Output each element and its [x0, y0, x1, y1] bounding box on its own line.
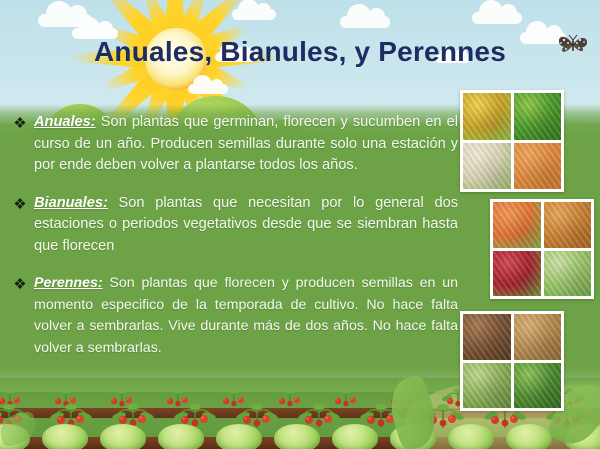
list-item: ❖ Bianuales: Son plantas que necesitan p… — [6, 193, 458, 258]
ginger-photo — [514, 314, 562, 360]
cantaloupe-photo — [514, 143, 562, 190]
beets-photo — [493, 251, 541, 297]
diamond-bullet-icon: ❖ — [6, 193, 34, 258]
cloud-icon — [340, 16, 390, 28]
bullet-term: Anuales: — [34, 114, 96, 130]
photo-texture — [514, 143, 562, 190]
bullet-description: Son plantas que germinan, florecen y suc… — [34, 114, 458, 173]
photo-texture — [493, 251, 541, 297]
cabbage-plant — [100, 424, 146, 449]
biennial-vegetables-collage — [490, 199, 594, 299]
cabbage-plant — [158, 424, 204, 449]
bullet-list: ❖ Anuales: Son plantas que germinan, flo… — [6, 112, 458, 375]
photo-texture — [544, 202, 592, 248]
cabbage-plant — [448, 424, 494, 449]
photo-texture — [544, 251, 592, 297]
diamond-bullet-icon: ❖ — [6, 112, 34, 177]
cloud-icon — [232, 9, 276, 20]
cabbage-photo — [544, 251, 592, 297]
list-item: ❖ Perennes: Son plantas que florecen y p… — [6, 273, 458, 359]
photo-texture — [514, 363, 562, 409]
page-title: Anuales, Bianules, y Perennes — [0, 36, 600, 68]
photo-texture — [463, 363, 511, 409]
bullet-term: Bianuales: — [34, 195, 108, 211]
lettuce-photo — [514, 93, 562, 140]
cabbage-plant — [42, 424, 88, 449]
slide: Anuales, Bianules, y Perennes ❖ Anuales:… — [0, 0, 600, 449]
bullet-term: Perennes: — [34, 275, 103, 291]
list-item: ❖ Anuales: Son plantas que germinan, flo… — [6, 112, 458, 177]
photo-texture — [463, 93, 511, 140]
photo-texture — [514, 314, 562, 360]
photo-texture — [493, 202, 541, 248]
cloud-icon — [188, 84, 228, 94]
cloud-icon — [472, 12, 522, 24]
asparagus-photo — [514, 363, 562, 409]
photo-texture — [463, 314, 511, 360]
cabbage-plant — [216, 424, 262, 449]
diamond-bullet-icon: ❖ — [6, 273, 34, 359]
annual-vegetables-collage — [460, 90, 564, 192]
photo-texture — [514, 93, 562, 140]
bullet-text: Anuales: Son plantas que germinan, flore… — [34, 112, 458, 177]
carrots-photo — [493, 202, 541, 248]
cabbage-plant — [332, 424, 378, 449]
cauliflower-photo — [463, 143, 511, 190]
bullet-text: Bianuales: Son plantas que necesitan por… — [34, 193, 458, 258]
onions-photo — [544, 202, 592, 248]
corn-photo — [463, 93, 511, 140]
bullet-text: Perennes: Son plantas que florecen y pro… — [34, 273, 458, 359]
photo-texture — [463, 143, 511, 190]
perennial-vegetables-collage — [460, 311, 564, 411]
yam-photo — [463, 314, 511, 360]
cabbage-plant — [506, 424, 552, 449]
cabbage-plant — [274, 424, 320, 449]
artichoke-photo — [463, 363, 511, 409]
